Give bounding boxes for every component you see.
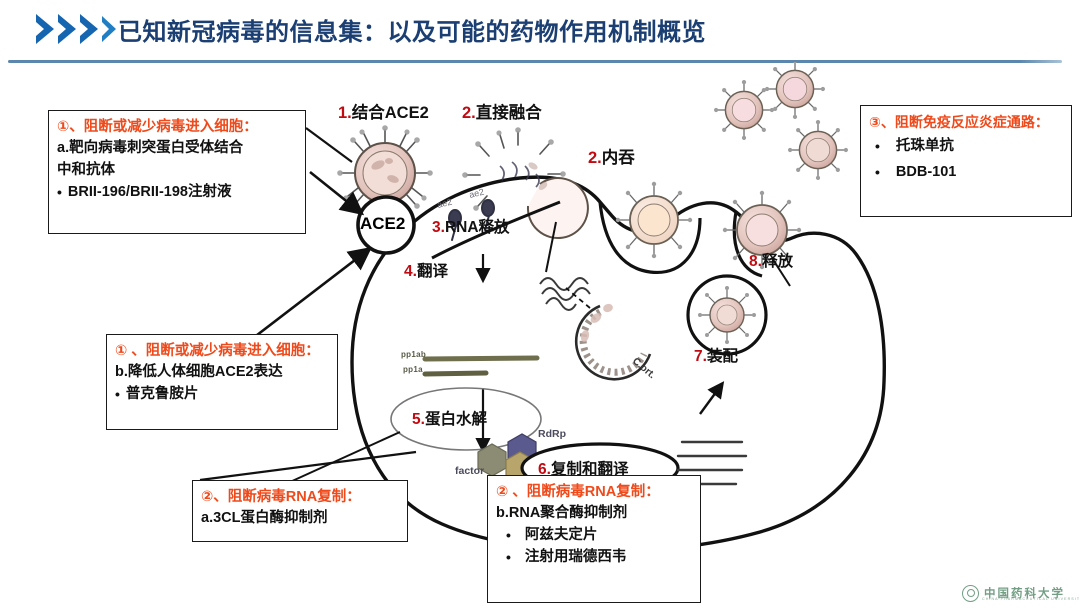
step-label-7: 7.装配 <box>694 344 738 366</box>
callout-bullet: • 普克鲁胺片 <box>115 384 329 406</box>
slide-root: 已知新冠病毒的信息集：以及可能的药物作用机制概览 <box>0 0 1080 611</box>
callout-heading: ① 、阻断或减少病毒进入细胞： <box>115 341 329 362</box>
step-label-2-fusion: 2.直接融合 <box>462 99 542 123</box>
callout-bullet-text: BDB-101 <box>886 162 956 184</box>
svg-text:ae2: ae2 <box>468 187 485 200</box>
pp1ab-label: pp1ab <box>401 350 426 359</box>
callout-bullet: • 托珠单抗 <box>869 136 1063 158</box>
callout-box-entry-b: ① 、阻断或减少病毒进入细胞： b.降低人体细胞ACE2表达 • 普克鲁胺片 <box>106 334 338 430</box>
callout-heading: ③、阻断免疫反应炎症通路： <box>869 112 1063 132</box>
callout-bullet: • BRII-196/BRII-198注射液 <box>57 182 297 204</box>
callout-bullet-text: BRII-196/BRII-198注射液 <box>68 182 232 204</box>
svg-text:C.ort.: C.ort. <box>630 356 657 381</box>
callout-bullet-text: 阿兹夫定片 <box>517 525 598 547</box>
callout-bullet-text: 普克鲁胺片 <box>126 384 199 406</box>
step-label-2-endocytosis: 2.内吞 <box>588 144 635 168</box>
callout-line: b.RNA聚合酶抑制剂 <box>496 503 692 525</box>
step-label-4: 4.翻译 <box>404 259 448 281</box>
university-name-en: CHINA PHARMACEUTICAL UNIVERSITY <box>982 597 1080 601</box>
callout-line: 中和抗体 <box>57 160 297 182</box>
ace2-receptor-label: ACE2 <box>360 214 405 234</box>
bullet-dot-icon: • <box>57 182 62 203</box>
callout-bullet: • BDB-101 <box>869 162 1063 184</box>
step-label-3: 3.RNA释放 <box>432 215 510 237</box>
callout-bullet-text: 托珠单抗 <box>886 136 954 158</box>
triple-chevron-right-icon <box>34 12 120 46</box>
callout-box-immune: ③、阻断免疫反应炎症通路： • 托珠单抗 • BDB-101 <box>860 105 1072 217</box>
callout-box-rna-b: ② 、阻断病毒RNA复制： b.RNA聚合酶抑制剂 • 阿兹夫定片 • 注射用瑞… <box>487 475 701 603</box>
step-label-1: 1.结合ACE2 <box>338 99 429 123</box>
bullet-dot-icon: • <box>506 547 511 568</box>
callout-line: a.靶向病毒刺突蛋白受体结合 <box>57 138 297 160</box>
bullet-dot-icon: • <box>875 162 880 183</box>
slide-header: 已知新冠病毒的信息集：以及可能的药物作用机制概览 <box>0 0 1080 62</box>
factor-label: factor <box>455 465 484 477</box>
callout-bullet-text: 注射用瑞德西韦 <box>517 547 627 569</box>
callout-bullet: • 阿兹夫定片 <box>496 525 692 547</box>
callout-box-rna-a: ②、阻断病毒RNA复制： a.3CL蛋白酶抑制剂 <box>192 480 408 542</box>
bullet-dot-icon: • <box>115 384 120 405</box>
rdrp-label: RdRp <box>538 428 566 440</box>
step-label-8: 8.释放 <box>749 249 793 271</box>
callout-heading: ②、阻断病毒RNA复制： <box>201 487 399 508</box>
svg-text:ae2: ae2 <box>436 197 453 210</box>
callout-box-entry-a: ①、阻断或减少病毒进入细胞： a.靶向病毒刺突蛋白受体结合 中和抗体 • BRI… <box>48 110 306 234</box>
pp1a-label: pp1a <box>403 365 423 374</box>
callout-heading: ①、阻断或减少病毒进入细胞： <box>57 117 297 138</box>
bullet-dot-icon: • <box>875 136 880 157</box>
callout-bullet: • 注射用瑞德西韦 <box>496 547 692 569</box>
university-seal-icon <box>962 585 979 602</box>
university-logo: 中国药科大学 CHINA PHARMACEUTICAL UNIVERSITY <box>962 581 1074 605</box>
page-title: 已知新冠病毒的信息集：以及可能的药物作用机制概览 <box>118 12 706 47</box>
bullet-dot-icon: • <box>506 525 511 546</box>
callout-line: b.降低人体细胞ACE2表达 <box>115 362 329 384</box>
step-label-5: 5.蛋白水解 <box>412 407 487 429</box>
callout-line: a.3CL蛋白酶抑制剂 <box>201 508 399 530</box>
callout-heading: ② 、阻断病毒RNA复制： <box>496 482 692 503</box>
